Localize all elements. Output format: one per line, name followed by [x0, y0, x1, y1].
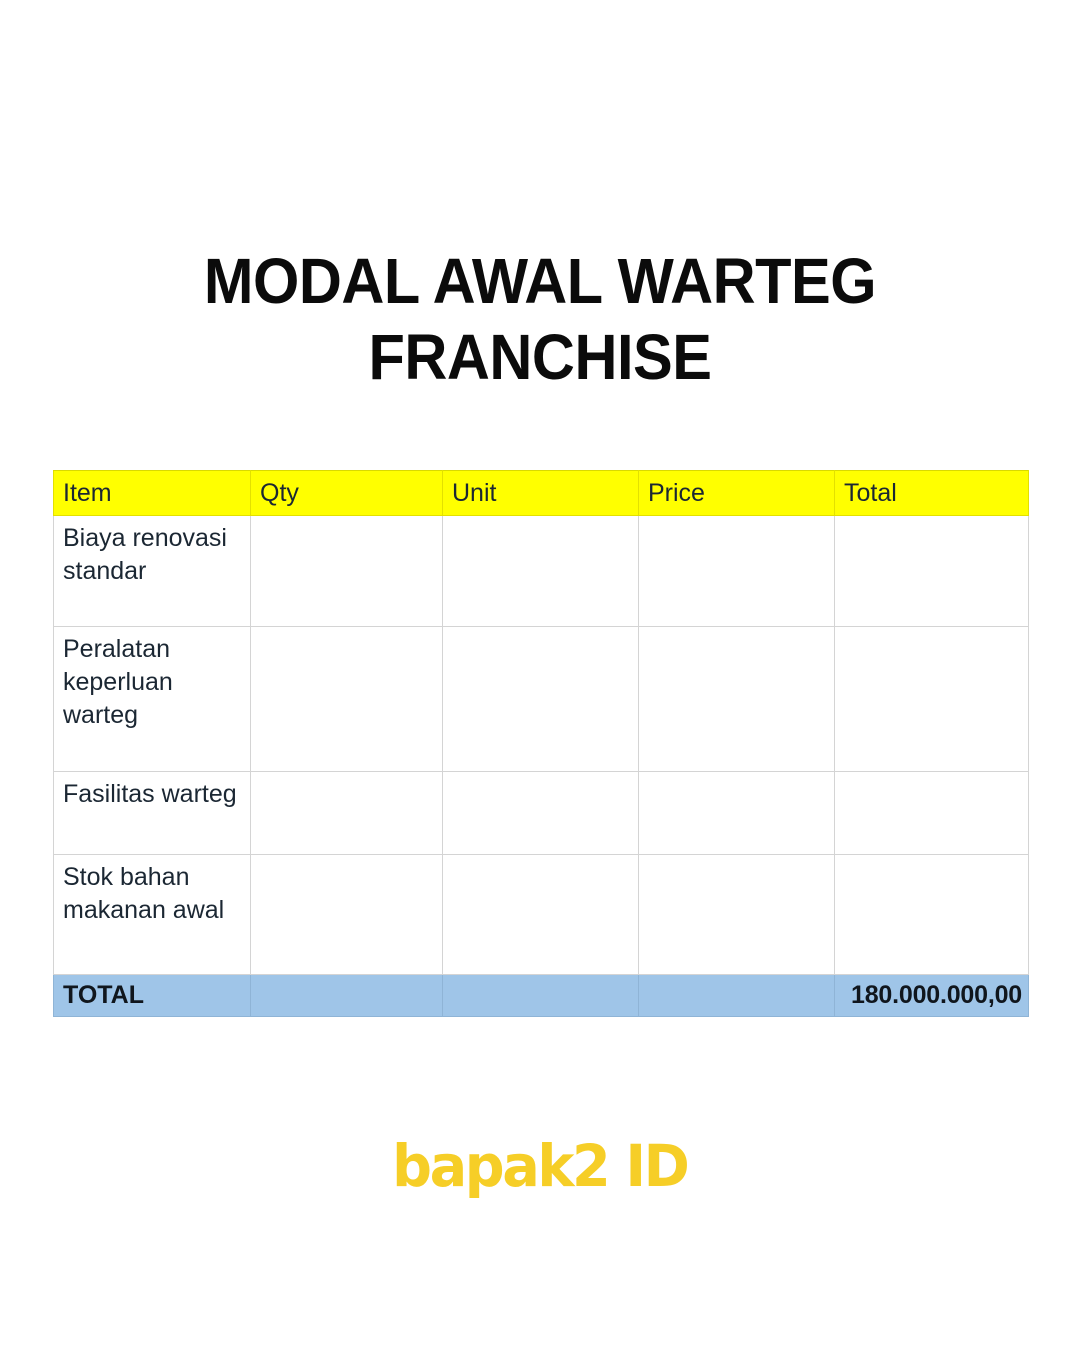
cell-total	[835, 627, 1029, 772]
cell-price	[639, 516, 835, 627]
table-row: Stok bahan makanan awal	[54, 855, 1029, 975]
table-total-row: TOTAL 180.000.000,00	[54, 975, 1029, 1017]
table-header-row: Item Qty Unit Price Total	[54, 471, 1029, 516]
table-row: Biaya renovasi standar	[54, 516, 1029, 627]
cell-item-text: Biaya renovasi standar	[63, 522, 250, 588]
column-header-item: Item	[54, 471, 251, 516]
cell-item: Fasilitas warteg	[54, 772, 251, 855]
cell-price	[639, 772, 835, 855]
total-label: TOTAL	[54, 975, 251, 1017]
table-row: Peralatan keperluan warteg	[54, 627, 1029, 772]
cell-qty	[251, 627, 443, 772]
cell-total	[835, 855, 1029, 975]
poster-canvas: MODAL AWAL WARTEG FRANCHISE Item Qty Uni…	[0, 0, 1080, 1350]
brand-logo-text: bapak2 ID	[392, 1135, 687, 1197]
cost-table-container: Item Qty Unit Price Total Biaya renovasi…	[53, 470, 1028, 1017]
cell-qty	[251, 516, 443, 627]
cell-price	[639, 627, 835, 772]
cell-item-text: Stok bahan makanan awal	[63, 861, 250, 927]
column-header-qty: Qty	[251, 471, 443, 516]
cell-item: Stok bahan makanan awal	[54, 855, 251, 975]
cell-unit	[443, 855, 639, 975]
column-header-total: Total	[835, 471, 1029, 516]
total-price	[639, 975, 835, 1017]
cell-qty	[251, 772, 443, 855]
page-title-line-2: FRANCHISE	[38, 319, 1042, 395]
cell-item: Biaya renovasi standar	[54, 516, 251, 627]
total-qty	[251, 975, 443, 1017]
cell-unit	[443, 772, 639, 855]
column-header-price: Price	[639, 471, 835, 516]
cell-item-text: Fasilitas warteg	[63, 778, 250, 811]
cell-price	[639, 855, 835, 975]
cost-table: Item Qty Unit Price Total Biaya renovasi…	[53, 470, 1029, 1017]
cell-qty	[251, 855, 443, 975]
table-row: Fasilitas warteg	[54, 772, 1029, 855]
cell-total	[835, 772, 1029, 855]
cell-unit	[443, 627, 639, 772]
page-title: MODAL AWAL WARTEG FRANCHISE	[0, 243, 1080, 395]
cell-item: Peralatan keperluan warteg	[54, 627, 251, 772]
cell-unit	[443, 516, 639, 627]
brand-logo: bapak2 ID	[0, 1135, 1080, 1197]
total-unit	[443, 975, 639, 1017]
cell-total	[835, 516, 1029, 627]
total-amount: 180.000.000,00	[835, 975, 1029, 1017]
cell-item-text: Peralatan keperluan warteg	[63, 633, 250, 732]
page-title-line-1: MODAL AWAL WARTEG	[38, 243, 1042, 319]
column-header-unit: Unit	[443, 471, 639, 516]
